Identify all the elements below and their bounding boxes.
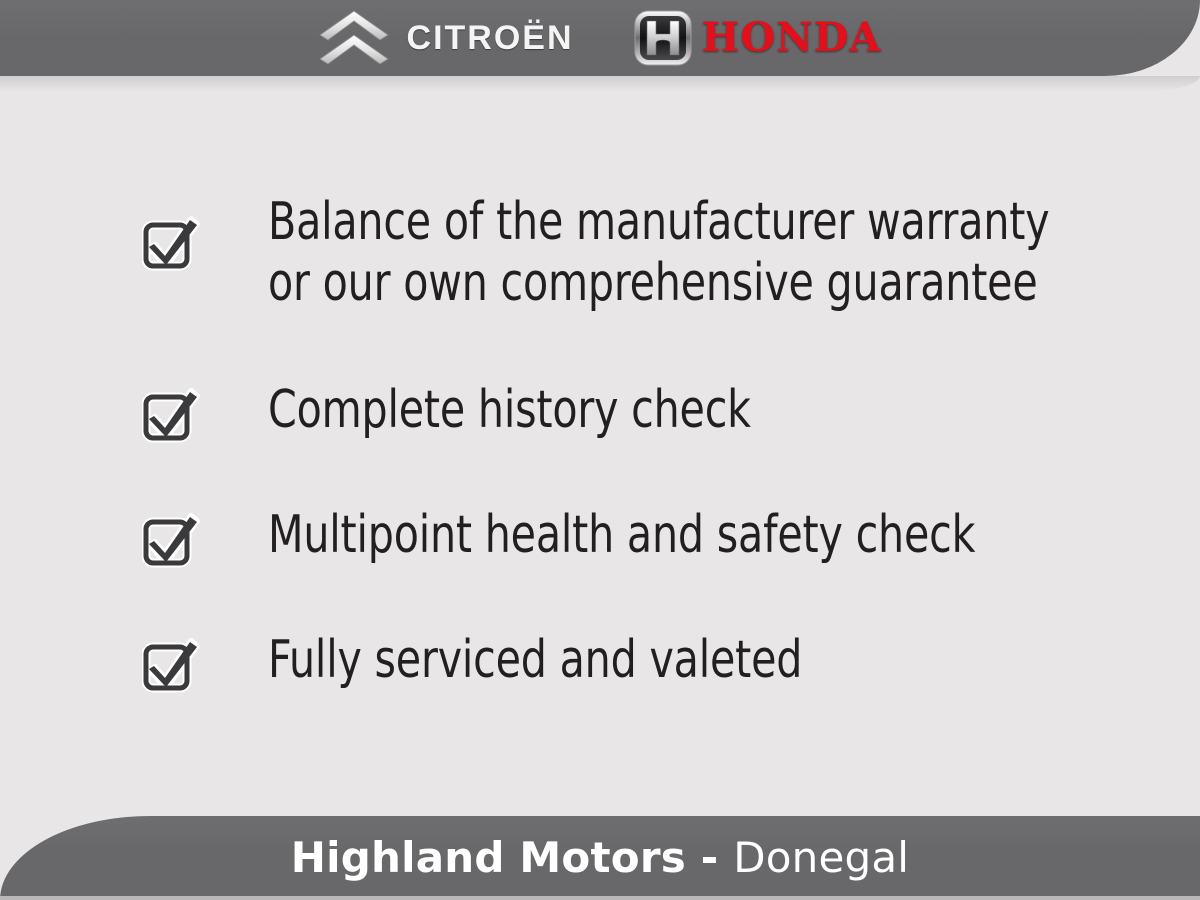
dealer-feature-poster: CITROËN xyxy=(0,0,1200,900)
checked-checkbox-icon xyxy=(142,214,200,272)
brand-logo-row: CITROËN xyxy=(315,9,882,67)
feature-item: Balance of the manufacturer warranty or … xyxy=(142,192,1156,315)
citroen-wordmark: CITROËN xyxy=(407,21,574,55)
checked-checkbox-icon xyxy=(142,511,200,569)
dealer-name: Highland Motors xyxy=(291,833,686,882)
feature-item: Fully serviced and valeted xyxy=(142,630,875,694)
dealer-separator: - xyxy=(686,833,733,882)
feature-item: Complete history check xyxy=(142,380,817,444)
checked-checkbox-icon xyxy=(142,386,200,444)
feature-label: Balance of the manufacturer warranty or … xyxy=(268,192,1049,315)
feature-label: Complete history check xyxy=(268,380,751,441)
honda-logo: HONDA xyxy=(634,10,882,66)
honda-h-emblem-icon xyxy=(634,10,692,66)
feature-label: Fully serviced and valeted xyxy=(268,630,802,691)
honda-wordmark: HONDA xyxy=(702,18,882,58)
dealer-footer-bar: Highland Motors - Donegal xyxy=(0,816,1200,900)
citroen-chevrons-icon xyxy=(315,9,393,67)
header-drop-shadow xyxy=(0,76,1200,92)
checked-checkbox-icon xyxy=(142,636,200,694)
dealer-footer-text: Highland Motors - Donegal xyxy=(291,837,909,879)
feature-label: Multipoint health and safety check xyxy=(268,505,975,566)
brand-header-bar: CITROËN xyxy=(0,0,1200,76)
feature-item: Multipoint health and safety check xyxy=(142,505,1072,569)
citroen-logo: CITROËN xyxy=(315,9,574,67)
dealer-location: Donegal xyxy=(733,833,909,882)
features-list: Balance of the manufacturer warranty or … xyxy=(0,92,1200,808)
page-bottom-edge xyxy=(0,896,1200,900)
